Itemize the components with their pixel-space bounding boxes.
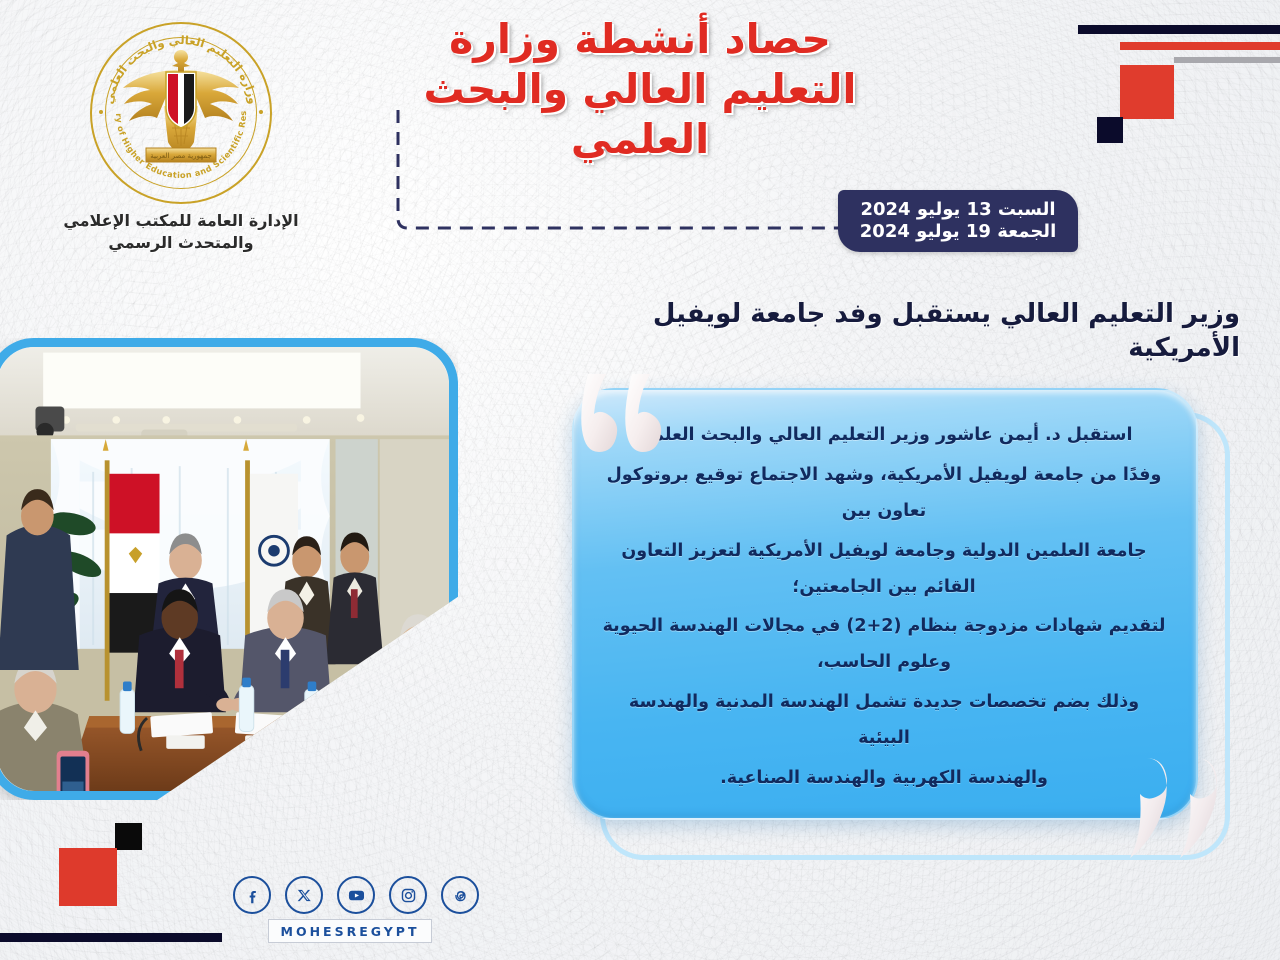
quote-open-icon xyxy=(566,368,672,474)
instagram-icon[interactable] xyxy=(389,876,427,914)
decoration-bar-gray-top-right xyxy=(1174,57,1280,63)
social-handle-label: MOHESREGYPT xyxy=(268,919,432,943)
youtube-icon[interactable] xyxy=(337,876,375,914)
date-from: السبت 13 يوليو 2024 xyxy=(860,199,1055,222)
social-links-bar[interactable] xyxy=(232,876,480,914)
decoration-square-red-top-right xyxy=(1120,65,1174,119)
body-paragraph-6: والهندسة الكهربية والهندسة الصناعية. xyxy=(602,761,1166,797)
decoration-square-black-bottom-left xyxy=(115,823,142,850)
poster-canvas: وزارة التعليم العالي والبحث العلمي Minis… xyxy=(0,0,1280,960)
news-photo xyxy=(0,338,458,800)
dashed-connector-line xyxy=(390,110,880,240)
ministry-emblem-icon: وزارة التعليم العالي والبحث العلمي Minis… xyxy=(90,22,272,204)
body-paragraph-4: لتقديم شهادات مزدوجة بنظام (2+2) في مجال… xyxy=(602,609,1166,681)
decoration-bar-navy-top-right xyxy=(1078,25,1280,34)
threads-icon[interactable] xyxy=(441,876,479,914)
news-photo-image xyxy=(0,347,449,791)
body-paragraph-3: جامعة العلمين الدولية وجامعة لويفيل الأم… xyxy=(602,534,1166,606)
quote-panel-text: استقبل د. أيمن عاشور وزير التعليم العالي… xyxy=(588,418,1180,790)
decoration-bar-red-top-right xyxy=(1120,42,1280,50)
meeting-room-illustration xyxy=(0,347,449,791)
news-headline: وزير التعليم العالي يستقبل وفد جامعة لوي… xyxy=(620,298,1240,366)
press-office-caption-line-2: والمتحدث الرسمي xyxy=(36,232,326,254)
ministry-logo-block: وزارة التعليم العالي والبحث العلمي Minis… xyxy=(36,22,326,253)
decoration-square-navy-top-right xyxy=(1097,117,1123,143)
press-office-caption-line-1: الإدارة العامة للمكتب الإعلامي xyxy=(36,210,326,232)
decoration-bar-navy-bottom-left xyxy=(0,933,222,942)
body-paragraph-5: وذلك بضم تخصصات جديدة تشمل الهندسة المدن… xyxy=(602,685,1166,757)
date-range-badge: السبت 13 يوليو 2024 الجمعة 19 يوليو 2024 xyxy=(838,190,1078,252)
body-paragraph-2: وفدًا من جامعة لويفيل الأمريكية، وشهد ال… xyxy=(602,458,1166,530)
news-photo-frame xyxy=(0,338,458,800)
x-twitter-icon[interactable] xyxy=(285,876,323,914)
decoration-square-red-bottom-left xyxy=(59,848,117,906)
press-office-caption: الإدارة العامة للمكتب الإعلامي والمتحدث … xyxy=(36,210,326,253)
facebook-icon[interactable] xyxy=(233,876,271,914)
main-title-line-1: حصاد أنشطة وزارة xyxy=(390,14,890,64)
emblem-shield-caption: جمهورية مصر العربية xyxy=(150,152,212,160)
date-to: الجمعة 19 يوليو 2024 xyxy=(860,221,1056,244)
quote-close-icon xyxy=(1118,752,1234,862)
body-paragraph-1: استقبل د. أيمن عاشور وزير التعليم العالي… xyxy=(602,418,1166,454)
eagle-of-saladin-icon: جمهورية مصر العربية xyxy=(116,46,246,180)
